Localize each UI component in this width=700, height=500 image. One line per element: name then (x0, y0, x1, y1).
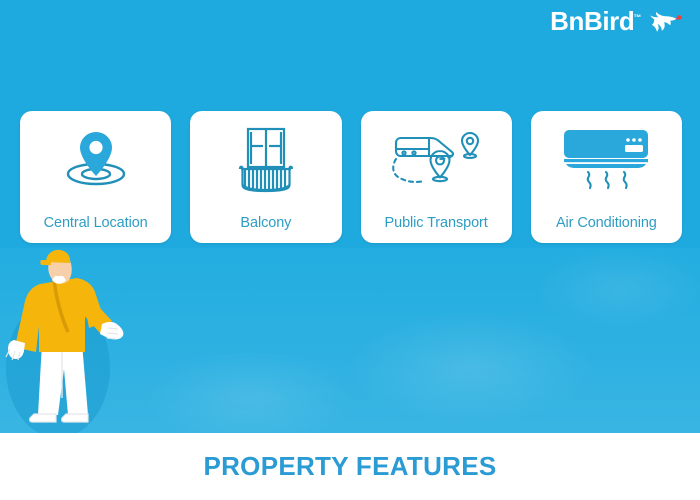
brand-name-text: BnBird (550, 6, 634, 36)
feature-card-label: Air Conditioning (556, 215, 657, 231)
map-pin-icon (20, 123, 171, 195)
bird-icon (648, 8, 682, 34)
slide-canvas: BnBird™ Central Location (0, 0, 700, 500)
brand-logo[interactable]: BnBird™ (550, 8, 682, 34)
feature-card-label: Balcony (240, 215, 291, 231)
bus-route-icon (361, 123, 512, 195)
balcony-window-icon (190, 123, 341, 195)
feature-card-balcony[interactable]: Balcony (190, 111, 341, 243)
feature-card-central-location[interactable]: Central Location (20, 111, 171, 243)
footer-bar: PROPERTY FEATURES (0, 433, 700, 500)
air-conditioner-icon (531, 123, 682, 195)
feature-card-public-transport[interactable]: Public Transport (361, 111, 512, 243)
trademark-symbol: ™ (633, 13, 641, 22)
brand-name: BnBird™ (550, 8, 642, 34)
hero-panel: BnBird™ Central Location (0, 0, 700, 433)
standing-person-illustration (0, 248, 156, 433)
feature-card-label: Central Location (44, 215, 148, 231)
page-title: PROPERTY FEATURES (203, 451, 496, 482)
feature-card-label: Public Transport (385, 215, 488, 231)
feature-card-air-conditioning[interactable]: Air Conditioning (531, 111, 682, 243)
feature-card-list: Central Location (20, 111, 682, 243)
